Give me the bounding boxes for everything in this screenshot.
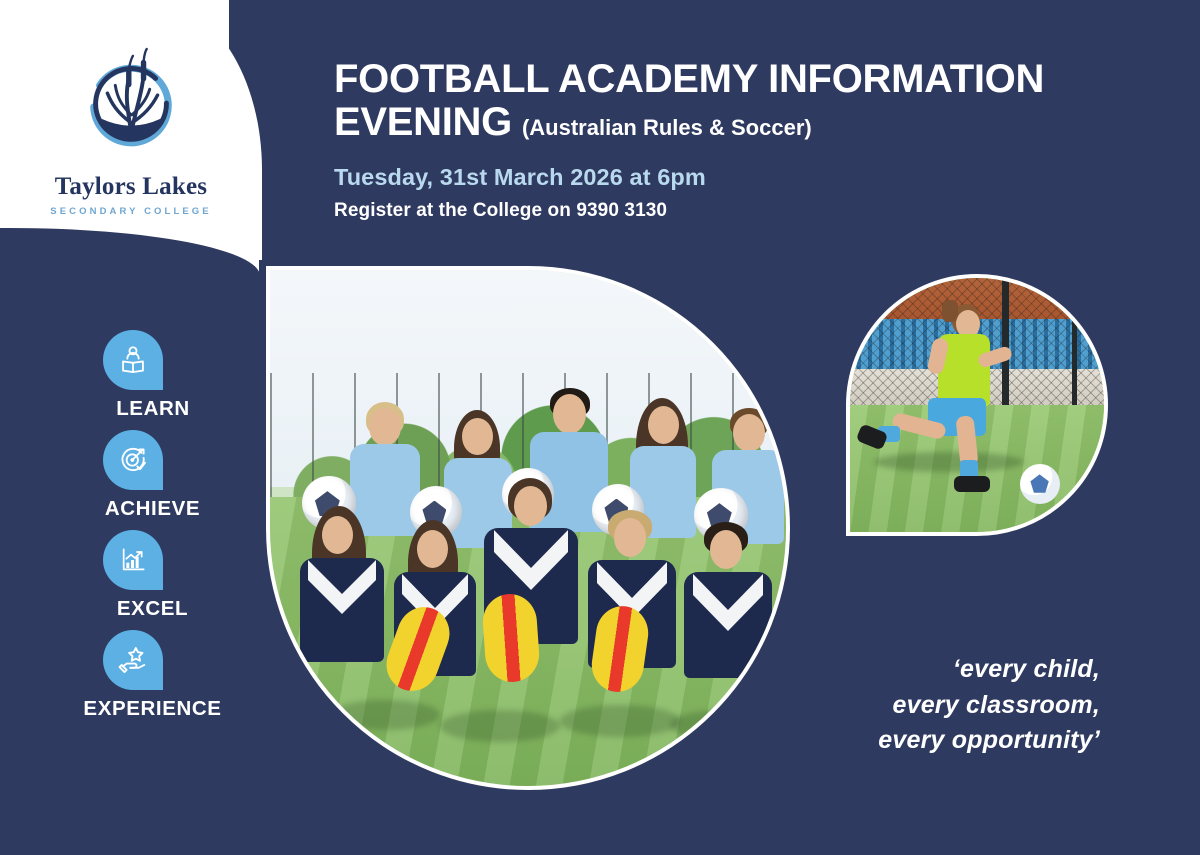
registration-info: Register at the College on 9390 3130 [334, 200, 1134, 222]
student-kicking-ball-photo [846, 274, 1108, 536]
value-item-achieve: ACHIEVE [0, 430, 260, 521]
college-logo: Taylors Lakes SECONDARY COLLEGE [36, 46, 226, 217]
logo-subtitle: SECONDARY COLLEGE [36, 206, 226, 217]
values-rail: LEARN ACHIEVE [0, 330, 260, 730]
title-parenthetical: (Australian Rules & Soccer) [522, 115, 812, 140]
event-date: Tuesday, 31st March 2026 at 6pm [334, 164, 1134, 191]
school-tagline: ‘every child, every classroom, every opp… [680, 652, 1100, 759]
title-line-1: FOOTBALL ACADEMY INFORMATION [334, 57, 1044, 101]
logo-name: Taylors Lakes [36, 174, 226, 199]
value-item-excel: EXCEL [0, 530, 260, 621]
tagline-line-3: every opportunity’ [680, 723, 1100, 759]
value-label-excel: EXCEL [45, 597, 260, 621]
target-arrow-check-icon [103, 430, 163, 490]
title-line-2: EVENING [334, 100, 512, 144]
poster-canvas: Taylors Lakes SECONDARY COLLEGE FOOTBALL… [0, 0, 1200, 855]
hand-holding-star-icon [103, 630, 163, 690]
value-label-learn: LEARN [46, 397, 260, 421]
header-block: FOOTBALL ACADEMY INFORMATION EVENING(Aus… [334, 58, 1134, 222]
tagline-line-2: every classroom, [680, 688, 1100, 724]
value-label-achieve: ACHIEVE [45, 497, 260, 521]
value-item-learn: LEARN [0, 330, 260, 421]
value-label-experience: EXPERIENCE [45, 697, 260, 721]
tagline-line-1: ‘every child, [680, 652, 1100, 688]
lake-reeds-circle-icon [72, 46, 190, 164]
bar-chart-growth-icon [103, 530, 163, 590]
value-item-experience: EXPERIENCE [0, 630, 260, 721]
page-title: FOOTBALL ACADEMY INFORMATION EVENING(Aus… [334, 58, 1134, 144]
person-reading-book-icon [103, 330, 163, 390]
